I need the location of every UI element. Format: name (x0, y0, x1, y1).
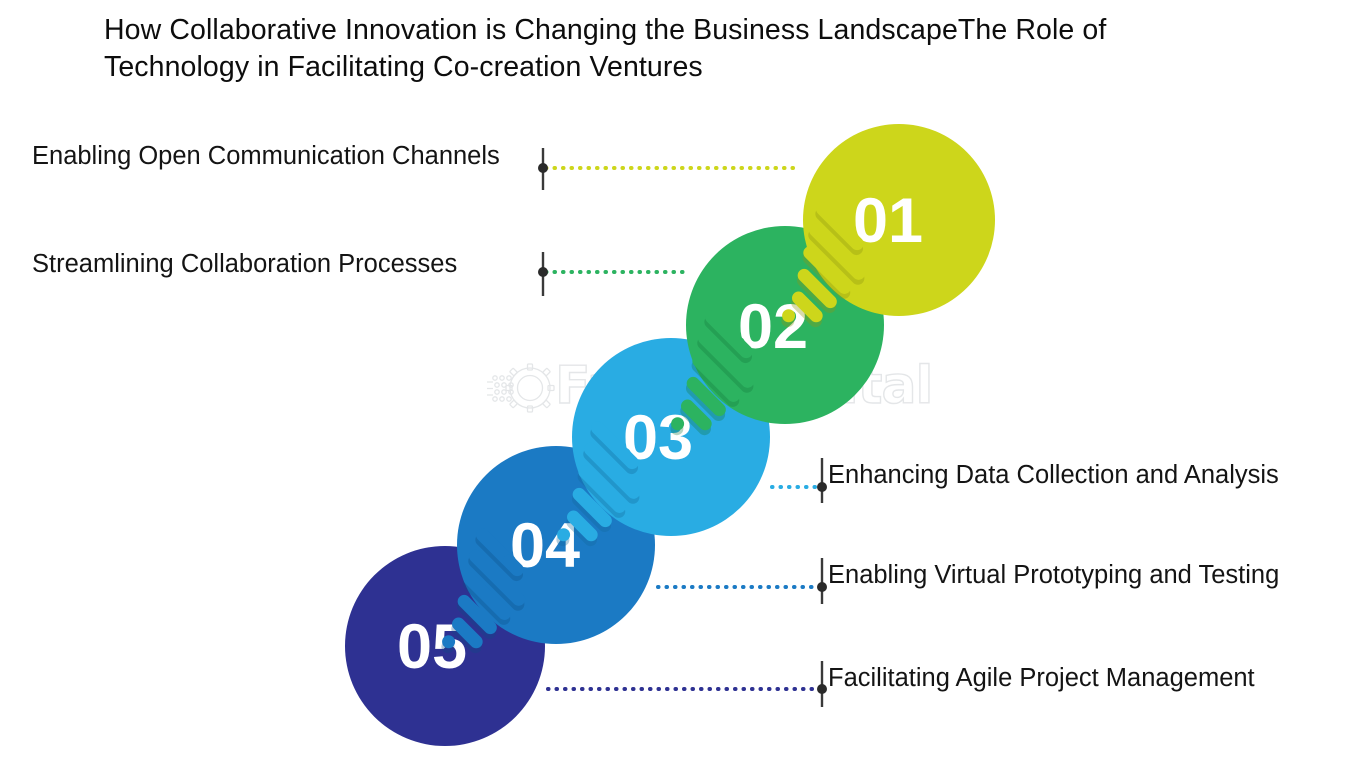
connector-03 (772, 458, 827, 503)
step-label-02: Streamlining Collaboration Processes (32, 247, 502, 281)
step-label-03: Enhancing Data Collection and Analysis (828, 458, 1298, 492)
step-label-01: Enabling Open Communication Channels (32, 139, 502, 173)
step-number-01: 01 (853, 186, 923, 256)
step-diagram: 05 04 03 02 (0, 0, 1350, 769)
connector-04 (658, 558, 827, 604)
step-label-04: Enabling Virtual Prototyping and Testing (828, 558, 1298, 592)
connector-02 (538, 252, 688, 296)
connector-05 (548, 661, 827, 707)
step-label-05: Facilitating Agile Project Management (828, 661, 1298, 695)
infographic-canvas: How Collaborative Innovation is Changing… (0, 0, 1350, 769)
connector-01 (538, 148, 800, 190)
